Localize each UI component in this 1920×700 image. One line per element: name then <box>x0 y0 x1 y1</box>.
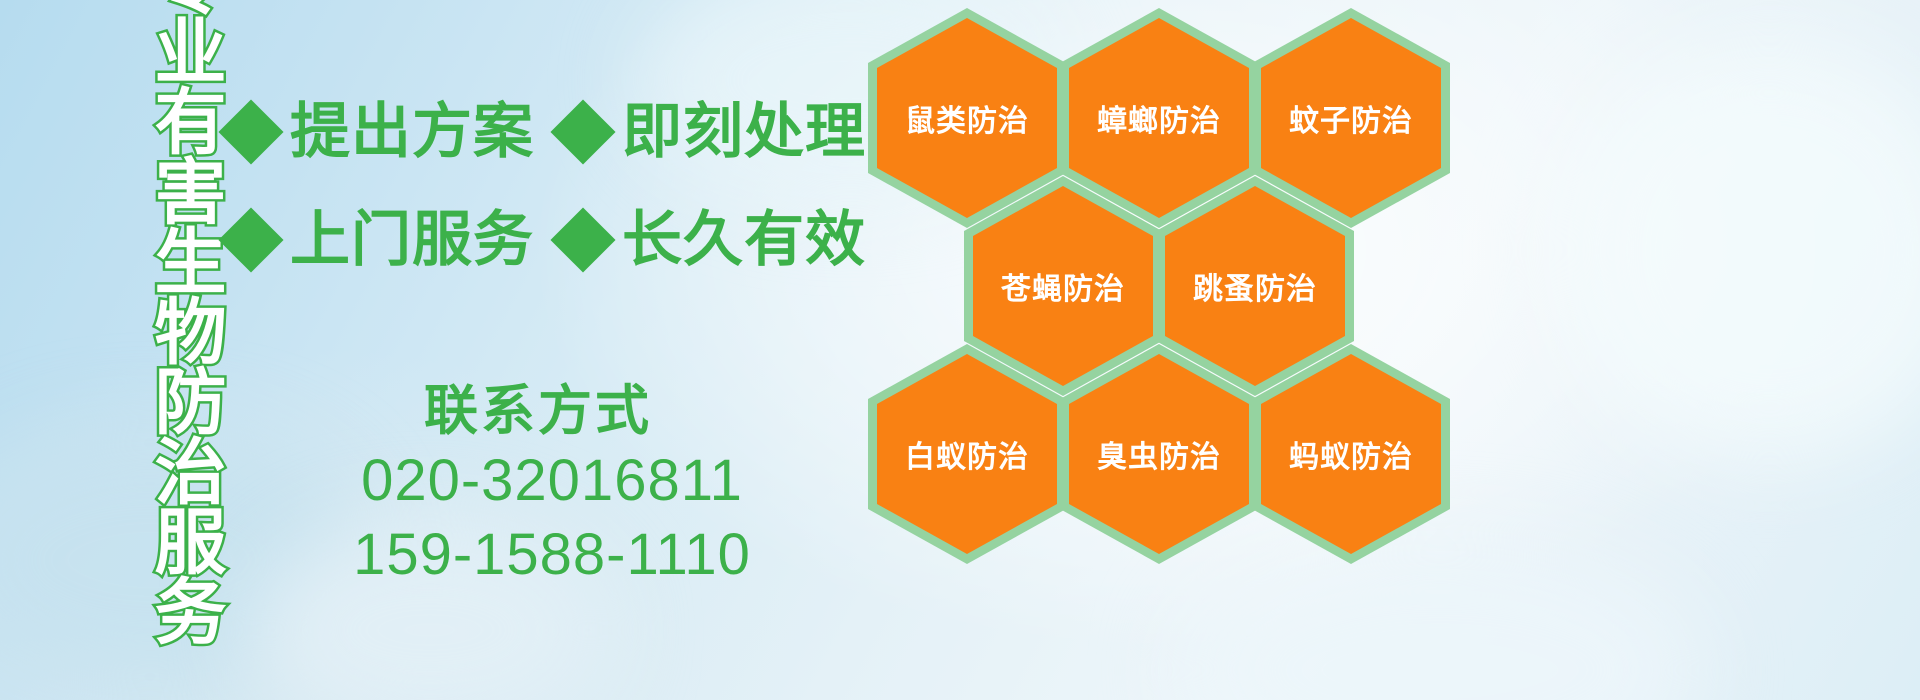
vertical-headline: 专业有害生物防治服务 <box>103 14 219 574</box>
diamond-bullet-icon <box>550 207 615 272</box>
phone-landline[interactable]: 020-32016811 <box>264 444 840 518</box>
feature-row: 上门服务 长久有效 <box>228 186 868 294</box>
service-label: 跳蚤防治 <box>1193 264 1317 308</box>
service-label: 蟑螂防治 <box>1097 96 1221 140</box>
phone-mobile[interactable]: 159-1588-1110 <box>264 518 840 592</box>
contact-title: 联系方式 <box>236 380 840 444</box>
contact-block: 联系方式 020-32016811 159-1588-1110 <box>300 380 840 592</box>
service-label: 白蚁防治 <box>905 432 1029 476</box>
feature-item-long-lasting: 长久有效 <box>560 210 866 270</box>
service-honeycomb: 鼠类防治 蟑螂防治 蚊子防治 苍蝇防治 跳蚤防治 白蚁防治 臭虫防治 蚂蚁 <box>862 4 1462 564</box>
diamond-bullet-icon <box>550 99 615 164</box>
feature-label: 即刻处理 <box>622 102 866 162</box>
service-label: 臭虫防治 <box>1097 432 1221 476</box>
feature-item-onsite-service: 上门服务 <box>228 210 534 270</box>
feature-label: 上门服务 <box>290 210 534 270</box>
service-label: 苍蝇防治 <box>1001 264 1125 308</box>
feature-label: 提出方案 <box>290 102 534 162</box>
feature-label: 长久有效 <box>622 210 866 270</box>
promo-banner: 专业有害生物防治服务 提出方案 即刻处理 上门服务 长久有效 <box>0 0 1920 700</box>
service-label: 鼠类防治 <box>905 96 1029 140</box>
diamond-bullet-icon <box>218 99 283 164</box>
feature-item-propose-plan: 提出方案 <box>228 102 534 162</box>
feature-row: 提出方案 即刻处理 <box>228 78 868 186</box>
service-label: 蚂蚁防治 <box>1289 432 1413 476</box>
service-label: 蚊子防治 <box>1289 96 1413 140</box>
feature-item-immediate-action: 即刻处理 <box>560 102 866 162</box>
background-blob <box>1560 40 1920 460</box>
diamond-bullet-icon <box>218 207 283 272</box>
feature-list: 提出方案 即刻处理 上门服务 长久有效 <box>228 78 868 294</box>
background-blob <box>1180 540 1700 700</box>
